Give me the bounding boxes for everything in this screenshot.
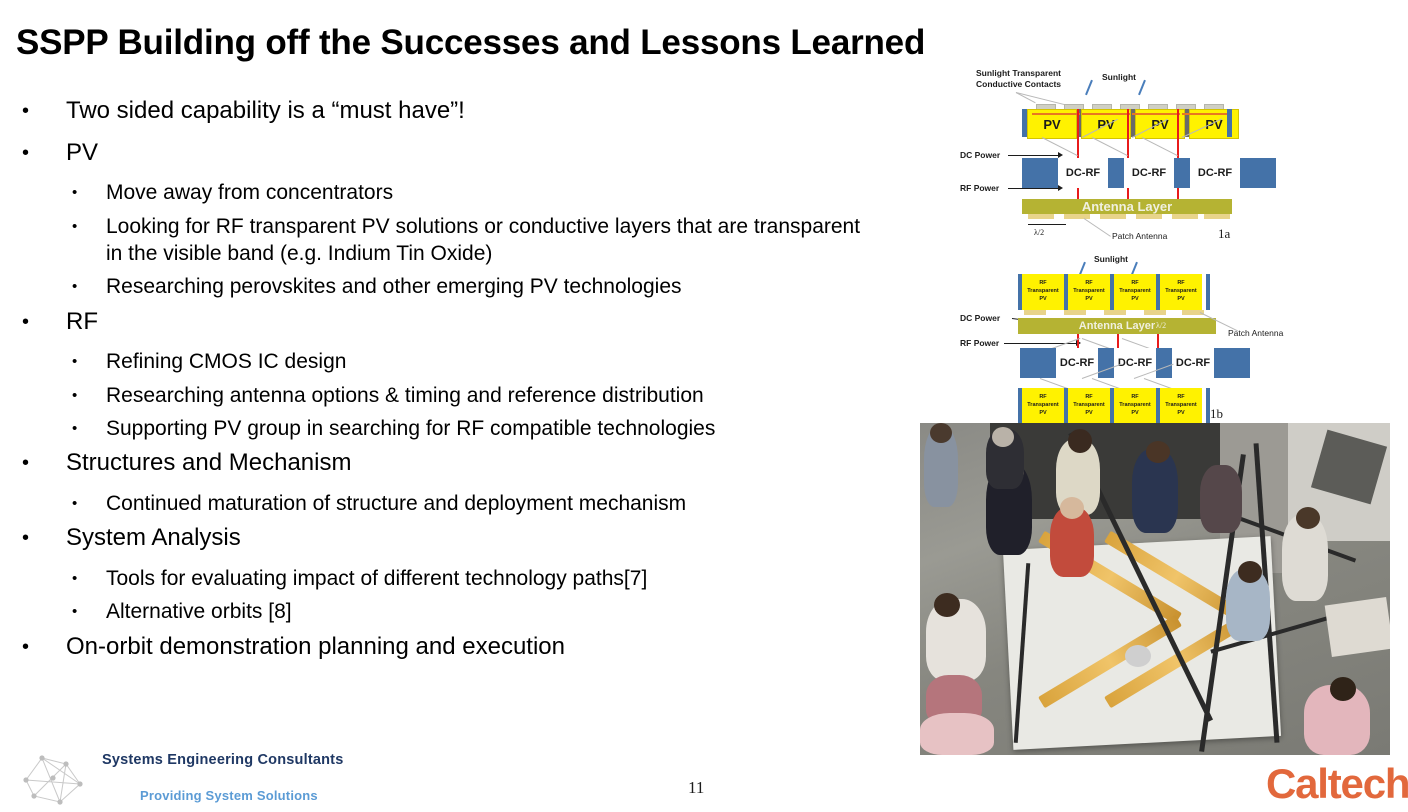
bullet-marker-icon: •	[72, 598, 106, 619]
bullet-marker-icon: •	[22, 632, 66, 657]
rf-pv-line: PV	[1039, 296, 1046, 304]
dcrf-block: DC-RF	[1124, 158, 1174, 188]
rf-transparent-pv-cell: RFTransparentPV	[1022, 388, 1064, 424]
bullet-list: •Two sided capability is a “must have”!•…	[0, 96, 900, 673]
leader-line	[1084, 218, 1111, 237]
label-lambda-1a: λ/2	[1034, 228, 1044, 237]
rf-block	[1022, 158, 1058, 188]
rf-pv-row-bottom: RFTransparentPVRFTransparentPVRFTranspar…	[1022, 388, 1202, 424]
rf-pv-line: RF	[1085, 394, 1092, 402]
label-patch-antenna-1a: Patch Antenna	[1112, 231, 1167, 241]
label-dc-power-1b: DC Power	[960, 313, 1000, 323]
dcrf-row-1b: DC-RFDC-RFDC-RF	[1020, 348, 1250, 378]
photo-person-head	[1296, 507, 1320, 529]
rf-block	[1020, 348, 1056, 378]
patch-antenna	[1104, 310, 1126, 315]
red-via	[1177, 109, 1179, 158]
rf-pv-line: Transparent	[1119, 288, 1150, 296]
bullet-text: Supporting PV group in searching for RF …	[106, 415, 715, 442]
rf-power-arrow	[1008, 188, 1058, 189]
patch-antenna	[1064, 214, 1090, 219]
photo-person-head	[992, 427, 1014, 447]
bullet-marker-icon: •	[72, 179, 106, 200]
red-via	[1177, 188, 1179, 199]
rf-pv-line: Transparent	[1073, 288, 1104, 296]
bullet-text: Tools for evaluating impact of different…	[106, 565, 647, 592]
lab-demo-photo	[920, 423, 1390, 755]
patch-antenna	[1204, 214, 1230, 219]
rf-block	[1108, 158, 1124, 188]
bullet-marker-icon: •	[22, 138, 66, 163]
slide-canvas: SSPP Building off the Successes and Less…	[0, 0, 1408, 812]
bullet-text: RF	[66, 307, 98, 338]
rf-pv-line: RF	[1131, 394, 1138, 402]
figure-label-1b: 1b	[1210, 406, 1223, 422]
antenna-layer-1a: Antenna Layer	[1022, 199, 1232, 214]
sec-logo-tagline: Providing System Solutions	[140, 788, 318, 803]
patch-antenna	[1172, 214, 1198, 219]
rf-power-arrowhead-icon	[1058, 185, 1063, 191]
bullet-marker-icon: •	[22, 307, 66, 332]
photo-person-head	[1238, 561, 1262, 583]
dcrf-block: DC-RF	[1172, 348, 1214, 378]
bullet-text: System Analysis	[66, 523, 241, 554]
label-lambda-1b: λ/2	[1156, 321, 1166, 330]
bullet-item-l2: •Continued maturation of structure and d…	[72, 490, 900, 517]
figure-label-1a: 1a	[1218, 226, 1230, 242]
label-transparent-contacts-line1: Sunlight Transparent	[976, 68, 1061, 78]
rf-pv-line: RF	[1039, 280, 1046, 288]
patch-antenna	[1136, 214, 1162, 219]
bullet-text: Move away from concentrators	[106, 179, 393, 206]
bullet-marker-icon: •	[72, 490, 106, 511]
rf-pv-line: PV	[1085, 410, 1092, 418]
red-via	[1077, 188, 1079, 199]
bullet-text: Continued maturation of structure and de…	[106, 490, 686, 517]
connector-line	[1092, 137, 1128, 156]
rf-transparent-pv-cell: RFTransparentPV	[1068, 274, 1110, 310]
photo-person-head	[1146, 441, 1170, 463]
patch-antenna	[1024, 310, 1046, 315]
red-via	[1157, 334, 1159, 348]
rf-block	[1098, 348, 1114, 378]
label-dc-power-1a: DC Power	[960, 150, 1000, 160]
label-sunlight-1b: Sunlight	[1094, 254, 1128, 264]
bullet-text: Refining CMOS IC design	[106, 348, 346, 375]
orange-trace	[1032, 113, 1080, 115]
bullet-marker-icon: •	[22, 448, 66, 473]
rf-transparent-pv-cell: RFTransparentPV	[1022, 274, 1064, 310]
orange-trace	[1132, 113, 1180, 115]
orange-trace	[1082, 113, 1130, 115]
rf-pv-line: Transparent	[1073, 402, 1104, 410]
bullet-item-l2: •Supporting PV group in searching for RF…	[72, 415, 900, 442]
rf-pv-line: PV	[1177, 410, 1184, 418]
photo-bench	[1325, 597, 1390, 657]
red-via	[1077, 334, 1079, 348]
red-via	[1127, 109, 1129, 158]
dc-power-arrow	[1008, 155, 1058, 156]
rf-pv-line: RF	[1131, 280, 1138, 288]
photo-person	[1200, 465, 1242, 533]
page-number: 11	[688, 778, 704, 798]
rf-block	[1174, 158, 1190, 188]
rf-block	[1240, 158, 1276, 188]
label-sunlight-1a: Sunlight	[1102, 72, 1136, 82]
bullet-item-l1: •Structures and Mechanism	[22, 448, 900, 479]
label-transparent-contacts-line2: Conductive Contacts	[976, 79, 1061, 89]
sec-logo: Systems Engineering Consultants Providin…	[20, 748, 310, 808]
bullet-item-l1: •On-orbit demonstration planning and exe…	[22, 632, 900, 663]
page-title: SSPP Building off the Successes and Less…	[16, 24, 976, 63]
label-patch-antenna-1b: Patch Antenna	[1228, 328, 1283, 338]
lambda-dimension-line	[1028, 224, 1066, 225]
bullet-item-l2: •Researching antenna options & timing an…	[72, 382, 900, 409]
bullet-marker-icon: •	[72, 415, 106, 436]
rf-pv-line: PV	[1085, 296, 1092, 304]
rf-transparent-pv-cell: RFTransparentPV	[1114, 274, 1156, 310]
rf-pv-line: Transparent	[1119, 402, 1150, 410]
bullet-item-l2: •Looking for RF transparent PV solutions…	[72, 213, 900, 268]
patch-antenna	[1064, 310, 1086, 315]
photo-person-head	[1068, 429, 1092, 453]
bullet-text: Structures and Mechanism	[66, 448, 351, 479]
bullet-text: Two sided capability is a “must have”!	[66, 96, 465, 127]
antenna-layer-1b: Antenna Layer	[1018, 318, 1216, 334]
rf-pv-line: RF	[1177, 280, 1184, 288]
sec-logo-primary-text: Systems Engineering Consultants	[102, 752, 343, 768]
photo-person-head	[934, 593, 960, 617]
photo-person-head	[1060, 497, 1084, 519]
network-nodes-icon	[20, 750, 92, 808]
bullet-marker-icon: •	[72, 213, 106, 234]
photo-structure-hub	[1125, 645, 1151, 667]
red-via	[1077, 109, 1079, 158]
label-rf-power-1a: RF Power	[960, 183, 999, 193]
bullet-item-l2: •Refining CMOS IC design	[72, 348, 900, 375]
photo-person-head	[930, 423, 952, 443]
rf-pv-row-top: RFTransparentPVRFTransparentPVRFTranspar…	[1022, 274, 1202, 310]
orange-trace	[1182, 113, 1227, 115]
bullet-marker-icon: •	[22, 96, 66, 121]
sunlight-ray-icon	[1138, 80, 1145, 95]
photo-person	[920, 713, 994, 755]
dcrf-block: DC-RF	[1058, 158, 1108, 188]
bullet-text: PV	[66, 138, 98, 169]
bullet-marker-icon: •	[72, 273, 106, 294]
dcrf-block: DC-RF	[1190, 158, 1240, 188]
bullet-item-l2: •Move away from concentrators	[72, 179, 900, 206]
rf-pv-line: Transparent	[1165, 288, 1196, 296]
rf-transparent-pv-cell: RFTransparentPV	[1068, 388, 1110, 424]
rf-pv-line: RF	[1085, 280, 1092, 288]
rf-transparent-pv-cell: RFTransparentPV	[1160, 388, 1202, 424]
bullet-item-l1: •System Analysis	[22, 523, 900, 554]
architecture-diagrams: Sunlight Transparent Conductive Contacts…	[960, 66, 1300, 426]
patch-antenna	[1100, 214, 1126, 219]
label-rf-power-1b: RF Power	[960, 338, 999, 348]
caltech-logo: Caltech	[1266, 760, 1408, 808]
photo-person-head	[1330, 677, 1356, 701]
bullet-item-l2: •Researching perovskites and other emerg…	[72, 273, 900, 300]
rf-pv-line: Transparent	[1165, 402, 1196, 410]
rf-pv-line: PV	[1131, 296, 1138, 304]
patch-antenna	[1144, 310, 1166, 315]
red-via	[1127, 188, 1129, 199]
pv-edge-bar	[1227, 109, 1232, 137]
pv-edge-bar	[1206, 274, 1210, 310]
bullet-marker-icon: •	[72, 382, 106, 403]
rf-pv-line: Transparent	[1027, 288, 1058, 296]
bullet-marker-icon: •	[72, 348, 106, 369]
bullet-marker-icon: •	[72, 565, 106, 586]
rf-block	[1214, 348, 1250, 378]
rf-block	[1156, 348, 1172, 378]
patch-antenna	[1028, 214, 1054, 219]
bullet-item-l2: •Tools for evaluating impact of differen…	[72, 565, 900, 592]
red-via	[1117, 334, 1119, 348]
rf-pv-line: RF	[1177, 394, 1184, 402]
bullet-text: Researching perovskites and other emergi…	[106, 273, 682, 300]
bullet-text: Researching antenna options & timing and…	[106, 382, 704, 409]
rf-transparent-pv-cell: RFTransparentPV	[1114, 388, 1156, 424]
bullet-marker-icon: •	[22, 523, 66, 548]
sunlight-ray-icon	[1085, 80, 1092, 95]
bullet-text: Alternative orbits [8]	[106, 598, 292, 625]
bullet-item-l1: •RF	[22, 307, 900, 338]
rf-transparent-pv-cell: RFTransparentPV	[1160, 274, 1202, 310]
rf-pv-line: RF	[1039, 394, 1046, 402]
dcrf-row-1a: DC-RFDC-RFDC-RF	[1022, 158, 1276, 188]
bullet-item-l1: •Two sided capability is a “must have”!	[22, 96, 900, 127]
rf-pv-line: PV	[1039, 410, 1046, 418]
bullet-item-l1: •PV	[22, 138, 900, 169]
bullet-text: Looking for RF transparent PV solutions …	[106, 213, 866, 268]
bullet-item-l2: •Alternative orbits [8]	[72, 598, 900, 625]
bullet-text: On-orbit demonstration planning and exec…	[66, 632, 565, 663]
rf-pv-line: PV	[1177, 296, 1184, 304]
rf-pv-line: Transparent	[1027, 402, 1058, 410]
rf-pv-line: PV	[1131, 410, 1138, 418]
connector-line	[1142, 137, 1178, 156]
